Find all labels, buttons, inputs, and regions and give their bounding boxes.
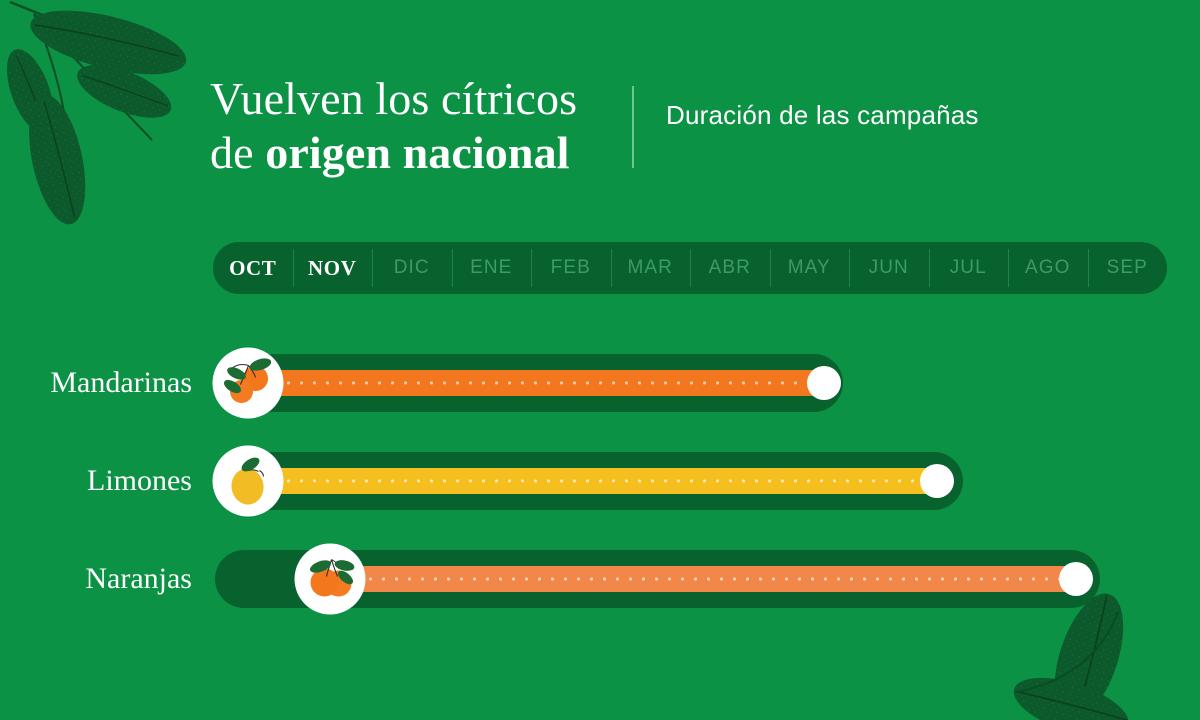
month-cell-sep[interactable]: SEP xyxy=(1088,242,1168,294)
month-timeline: OCT NOV DIC ENE FEB MAR ABR MAY JUN JUL … xyxy=(213,242,1167,294)
page-title: Vuelven los cítricos de origen nacional xyxy=(210,72,610,181)
orange-icon xyxy=(295,544,366,615)
campaign-row-limones: Limones xyxy=(0,445,1200,517)
title-line-2-prefix: de xyxy=(210,127,265,178)
row-label-limones: Limones xyxy=(87,464,192,498)
month-cell-oct[interactable]: OCT xyxy=(213,242,293,294)
month-cell-ago[interactable]: AGO xyxy=(1008,242,1088,294)
header-subtitle: Duración de las campañas xyxy=(666,100,979,131)
campaign-row-naranjas: Naranjas xyxy=(0,543,1200,615)
bar-fill-mandarinas xyxy=(248,370,825,396)
bar-dots-naranjas xyxy=(338,577,1074,581)
title-line-2: de origen nacional xyxy=(210,126,610,180)
month-cell-ene[interactable]: ENE xyxy=(452,242,532,294)
infographic-canvas: Vuelven los cítricos de origen nacional … xyxy=(0,0,1200,720)
month-cell-nov[interactable]: NOV xyxy=(293,242,373,294)
month-cell-mar[interactable]: MAR xyxy=(611,242,691,294)
month-cell-dic[interactable]: DIC xyxy=(372,242,452,294)
bar-fill-naranjas xyxy=(330,566,1082,592)
bar-end-knob-mandarinas[interactable] xyxy=(807,366,841,400)
title-line-1: Vuelven los cítricos xyxy=(210,72,610,126)
mandarin-icon xyxy=(213,348,284,419)
month-cell-may[interactable]: MAY xyxy=(770,242,850,294)
month-cell-jul[interactable]: JUL xyxy=(929,242,1009,294)
title-line-2-emphasis: origen nacional xyxy=(265,127,569,178)
bar-dots-limones xyxy=(256,479,937,483)
bar-end-knob-naranjas[interactable] xyxy=(1059,562,1093,596)
month-cell-abr[interactable]: ABR xyxy=(690,242,770,294)
header-divider xyxy=(632,86,634,168)
leaf-branch-top-left xyxy=(0,0,192,229)
header: Vuelven los cítricos de origen nacional … xyxy=(210,72,979,181)
month-cell-jun[interactable]: JUN xyxy=(849,242,929,294)
bar-fill-limones xyxy=(248,468,945,494)
month-cell-feb[interactable]: FEB xyxy=(531,242,611,294)
bar-end-knob-limones[interactable] xyxy=(920,464,954,498)
campaign-row-mandarinas: Mandarinas xyxy=(0,347,1200,419)
bar-dots-mandarinas xyxy=(256,381,817,385)
lemon-icon xyxy=(213,446,284,517)
row-label-mandarinas: Mandarinas xyxy=(50,366,192,400)
row-label-naranjas: Naranjas xyxy=(85,562,192,596)
